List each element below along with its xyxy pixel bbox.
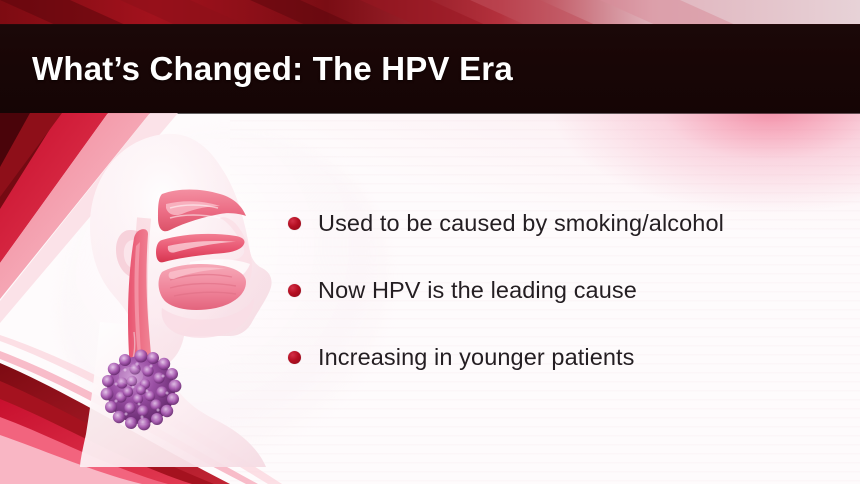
list-item: Increasing in younger patients (288, 324, 848, 391)
bullet-dot-icon (288, 284, 301, 297)
bullet-text: Increasing in younger patients (318, 344, 635, 371)
list-item: Used to be caused by smoking/alcohol (288, 190, 848, 257)
bullet-text: Used to be caused by smoking/alcohol (318, 210, 724, 237)
bullet-text: Now HPV is the leading cause (318, 277, 637, 304)
bullet-dot-icon (288, 351, 301, 364)
title-bar: What’s Changed: The HPV Era (0, 25, 860, 113)
page-title: What’s Changed: The HPV Era (32, 50, 513, 88)
hpv-virus-particle-icon (95, 338, 187, 438)
top-decoration-strip (0, 0, 860, 27)
bullet-list: Used to be caused by smoking/alcohol Now… (288, 190, 848, 391)
bullet-dot-icon (288, 217, 301, 230)
list-item: Now HPV is the leading cause (288, 257, 848, 324)
slide-canvas: What’s Changed: The HPV Era (0, 0, 860, 484)
